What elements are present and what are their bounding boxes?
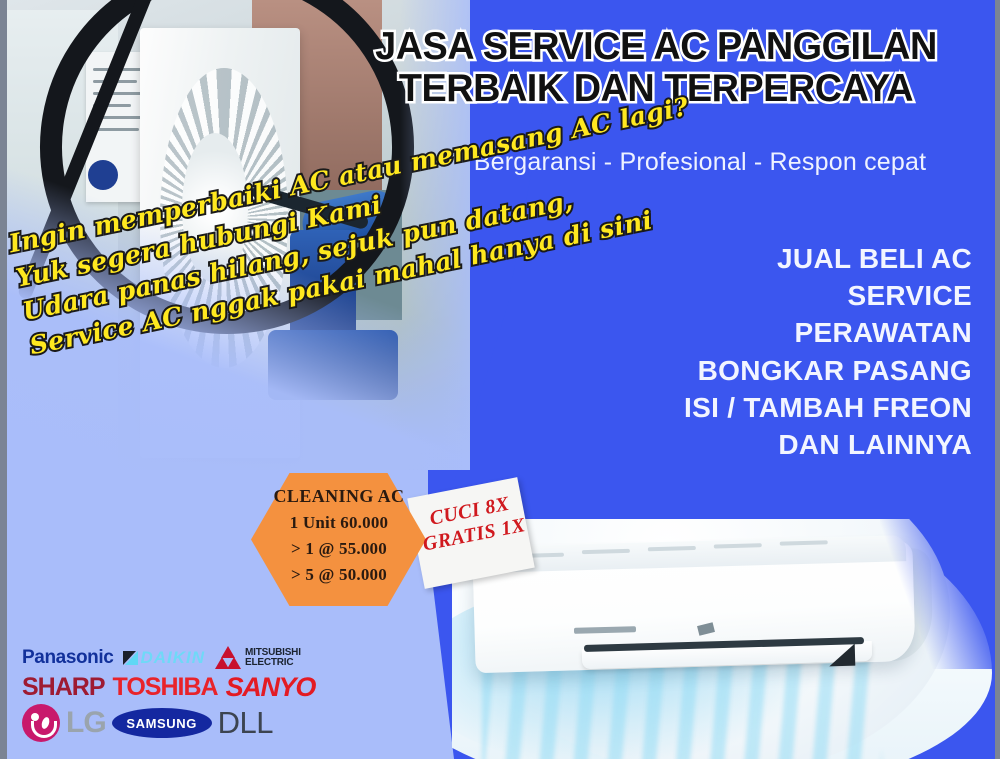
mitsubishi-line-2: ELECTRIC xyxy=(245,658,301,669)
indoor-ac-photo xyxy=(452,519,1000,759)
headline-line-1: JASA SERVICE AC PANGGILAN xyxy=(375,25,937,68)
daikin-logo: DAIKIN xyxy=(123,648,205,668)
price-line-2: > 5 @ 50.000 xyxy=(254,565,424,585)
service-item-0: JUAL BELI AC xyxy=(612,240,972,277)
brand-logo-group: Panasonic DAIKIN MITSUBISHI ELECTRIC SHA… xyxy=(22,646,352,742)
samsung-wordmark: SAMSUNG xyxy=(126,716,197,731)
brand-row-3: LG SAMSUNG DLL xyxy=(22,704,352,742)
price-badge: CLEANING AC 1 Unit 60.000 > 1 @ 55.000 >… xyxy=(254,486,424,585)
daikin-wordmark: DAIKIN xyxy=(140,648,205,668)
lg-face-icon xyxy=(22,704,60,742)
lg-wordmark: LG xyxy=(66,706,106,740)
service-item-2: PERAWATAN xyxy=(612,314,972,351)
advertisement-poster: JASA SERVICE AC PANGGILAN TERBAIK DAN TE… xyxy=(0,0,1000,759)
service-item-5: DAN LAINNYA xyxy=(612,426,972,463)
mitsubishi-diamond-icon xyxy=(215,646,241,670)
panasonic-logo: Panasonic xyxy=(22,647,113,669)
service-list: JUAL BELI AC SERVICE PERAWATAN BONGKAR P… xyxy=(612,240,972,463)
brand-row-1: Panasonic DAIKIN MITSUBISHI ELECTRIC xyxy=(22,646,352,670)
mitsubishi-wordmark: MITSUBISHI ELECTRIC xyxy=(245,648,301,669)
samsung-logo: SAMSUNG xyxy=(112,708,212,738)
right-edge-rail xyxy=(995,0,1000,759)
photo-blue-blend xyxy=(880,519,1000,669)
sharp-logo: SHARP xyxy=(22,673,105,702)
brand-row-2: SHARP TOSHIBA SANYO xyxy=(22,672,352,703)
service-item-1: SERVICE xyxy=(612,277,972,314)
sanyo-logo: SANYO xyxy=(226,672,316,703)
price-line-0: 1 Unit 60.000 xyxy=(254,513,424,533)
mitsubishi-logo: MITSUBISHI ELECTRIC xyxy=(215,646,301,670)
daikin-triangle-cyan-icon xyxy=(125,651,138,665)
service-item-3: BONGKAR PASANG xyxy=(612,352,972,389)
indoor-unit-corner-shadow xyxy=(829,644,856,667)
toshiba-logo: TOSHIBA xyxy=(113,673,218,702)
price-badge-title: CLEANING AC xyxy=(254,486,424,507)
left-edge-rail xyxy=(0,0,7,759)
service-item-4: ISI / TAMBAH FREON xyxy=(612,389,972,426)
dll-label: DLL xyxy=(218,705,273,741)
price-line-1: > 1 @ 55.000 xyxy=(254,539,424,559)
